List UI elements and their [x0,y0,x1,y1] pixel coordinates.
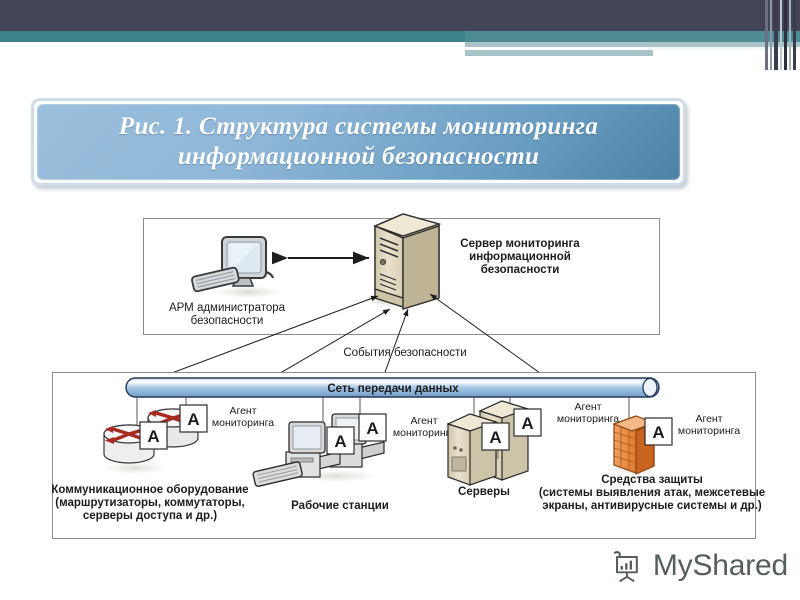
agent-badge: A [514,409,541,436]
svg-text:мониторинга: мониторинга [393,427,455,439]
communication-equipment-caption: Коммуникационное оборудование [51,484,248,496]
banner-accent-band-1 [465,31,800,42]
workstations-caption: Рабочие станции [291,500,389,512]
monitoring-server-label: Сервер мониторинга [460,238,580,250]
myshared-watermark: MyShared [608,540,788,592]
svg-text:мониторинга: мониторинга [557,413,619,425]
security-events-label: События безопасности [343,347,466,359]
banner-stripe [770,0,772,70]
svg-text:A: A [366,419,378,438]
data-network-bar: Сеть передачи данных [126,378,659,397]
banner-stripe [789,0,791,70]
svg-text:(маршрутизаторы, коммутаторы,: (маршрутизаторы, коммутаторы, [55,497,244,509]
svg-text:безопасности: безопасности [481,264,560,276]
agent-badge: A [180,405,207,432]
svg-text:A: A [147,427,159,446]
agent-label: Агент [574,401,601,413]
banner-stripe [784,0,787,70]
network-bar-label: Сеть передачи данных [327,383,459,395]
banner-stripe [765,0,768,70]
presentation-board-icon [608,545,646,587]
svg-text:информационной: информационной [469,251,571,263]
banner-accent-band-3 [465,47,647,50]
svg-text:A: A [334,432,346,451]
servers-caption: Серверы [458,486,510,498]
svg-text:(системы выявления атак, межсе: (системы выявления атак, межсетевые [539,487,765,499]
watermark-label: MyShared [653,549,788,583]
agent-badge: A [327,427,354,454]
svg-text:безопасности: безопасности [191,315,264,327]
agent-badge: A [359,414,386,441]
figure-title-plaque: Рис. 1. Структура системы мониторинга ин… [31,98,686,186]
agent-label: Агент [410,415,437,427]
svg-text:A: A [187,410,199,429]
svg-text:экраны, антивирусные системы и: экраны, антивирусные системы и др.) [542,500,762,512]
banner-stripe [780,0,782,70]
svg-text:A: A [489,428,501,447]
agent-badge: A [140,422,167,449]
figure-title-fill: Рис. 1. Структура системы мониторинга ин… [37,104,680,180]
agent-label: Агент [229,405,256,417]
svg-text:A: A [521,414,533,433]
agent-label: Агент [695,413,722,425]
page-title: Рис. 1. Структура системы мониторинга ин… [105,112,612,173]
banner-accent-band-4 [465,50,653,56]
system-architecture-diagram: АРМ администратора безопасности Сервер м… [0,196,800,546]
agent-badge: A [645,418,672,445]
svg-text:мониторинга: мониторинга [212,417,274,429]
svg-text:A: A [652,423,664,442]
banner-stripe [793,0,796,70]
admin-workstation-label: АРМ администратора [169,302,286,314]
svg-text:серверы доступа и др.): серверы доступа и др.) [83,510,217,522]
agent-badge: A [482,423,509,450]
banner-stripe [774,0,778,70]
protection-tools-caption: Средства защиты [601,474,703,486]
banner-dark-bar [0,0,800,31]
svg-text:мониторинга: мониторинга [678,425,740,437]
page-banner [0,0,800,70]
monitoring-server-icon [364,214,439,309]
